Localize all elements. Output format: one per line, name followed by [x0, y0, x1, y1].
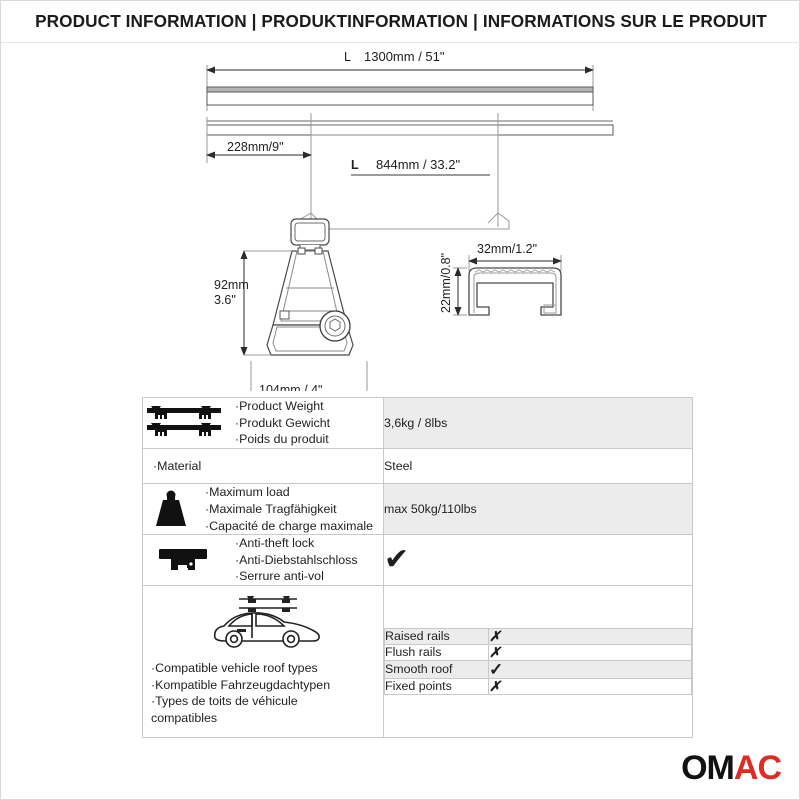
bar-length-label: L: [344, 50, 351, 64]
roof-type-mark: ✗: [489, 644, 692, 660]
profile-width-label: 32mm/1.2": [477, 242, 537, 256]
row-label-text: ·Maximum load ·Maximale Tragfähigkeit ·C…: [205, 484, 373, 534]
weight-icon: [143, 488, 199, 530]
technical-drawing: L 1300mm / 51" 228mm/9" L 844mm / 33.2" …: [1, 43, 800, 391]
logo-text-accent: AC: [734, 751, 781, 785]
roof-type-mark: ✗: [489, 678, 692, 694]
label-line: ·Capacité de charge maximale: [205, 518, 373, 535]
row-label-cell: ·Product Weight ·Produkt Gewicht ·Poids …: [143, 398, 384, 449]
car-with-rack-icon: [203, 592, 323, 654]
table-row: ·Maximum load ·Maximale Tragfähigkeit ·C…: [143, 484, 693, 535]
row-label-text: ·Anti-theft lock ·Anti-Diebstahlschloss …: [235, 535, 358, 585]
roof-type-row: Flush rails ✗: [385, 644, 692, 660]
label-line: compatibles: [151, 710, 330, 727]
label-line: ·Serrure anti-vol: [235, 568, 358, 585]
roof-type-mark: ✓: [489, 660, 692, 678]
logo-text-dark: OM: [681, 751, 734, 785]
roof-type-row: Fixed points ✗: [385, 678, 692, 694]
check-mark-icon: ✔: [384, 543, 409, 576]
omac-logo: OMAC: [681, 751, 781, 785]
max-load-value: max 50kg/110lbs: [384, 484, 693, 535]
label-line: ·Poids du produit: [235, 431, 330, 448]
label-line: ·Produkt Gewicht: [235, 415, 330, 432]
roof-type-name: Raised rails: [385, 628, 489, 644]
label-line: ·Material: [153, 458, 383, 475]
product-information-page: PRODUCT INFORMATION | PRODUKTINFORMATION…: [0, 0, 800, 800]
roof-types-table: Raised rails ✗ Flush rails ✗: [384, 628, 692, 695]
label-line: ·Anti-Diebstahlschloss: [235, 552, 358, 569]
foot-height-line2: 3.6": [214, 293, 236, 307]
table-row: ·Compatible vehicle roof types ·Kompatib…: [143, 586, 693, 737]
table-row: ·Anti-theft lock ·Anti-Diebstahlschloss …: [143, 535, 693, 586]
page-title: PRODUCT INFORMATION | PRODUKTINFORMATION…: [35, 11, 767, 32]
roof-type-row: Smooth roof ✓: [385, 660, 692, 678]
label-line: ·Product Weight: [235, 398, 330, 415]
profile-height-label: 22mm/0.8": [439, 253, 453, 313]
label-line: ·Types de toits de véhicule: [151, 693, 330, 710]
row-label-text: ·Material: [153, 449, 383, 484]
page-header: PRODUCT INFORMATION | PRODUKTINFORMATION…: [1, 1, 800, 43]
label-line: ·Kompatible Fahrzeugdachtypen: [151, 677, 330, 694]
foot-width-label: 104mm / 4": [259, 383, 323, 391]
roof-type-mark: ✗: [489, 628, 692, 644]
roof-type-row: Raised rails ✗: [385, 628, 692, 644]
check-mark-icon: ✓: [489, 660, 503, 679]
row-label-cell: ·Anti-theft lock ·Anti-Diebstahlschloss …: [143, 535, 384, 586]
row-label-text: ·Product Weight ·Produkt Gewicht ·Poids …: [235, 398, 330, 448]
span-label: L: [351, 158, 359, 172]
cross-mark-icon: ✗: [489, 644, 501, 660]
foot-offset-label: 228mm/9": [227, 140, 284, 154]
compat-label-text: ·Compatible vehicle roof types ·Kompatib…: [143, 660, 330, 726]
lock-icon: [143, 543, 229, 577]
label-line: ·Maximale Tragfähigkeit: [205, 501, 373, 518]
table-row: ·Product Weight ·Produkt Gewicht ·Poids …: [143, 398, 693, 449]
compat-label-cell: ·Compatible vehicle roof types ·Kompatib…: [143, 586, 384, 737]
crossbar-pair-icon: [143, 403, 229, 443]
roof-type-name: Flush rails: [385, 644, 489, 660]
span-value: 844mm / 33.2": [376, 157, 460, 172]
roof-type-name: Smooth roof: [385, 660, 489, 678]
bar-length-value: 1300mm / 51": [364, 49, 445, 64]
table-row: ·Material Steel: [143, 448, 693, 484]
anti-theft-value: ✔: [384, 535, 693, 586]
product-weight-value: 3,6kg / 8lbs: [384, 398, 693, 449]
material-value: Steel: [384, 448, 693, 484]
row-label-cell: ·Maximum load ·Maximale Tragfähigkeit ·C…: [143, 484, 384, 535]
label-line: ·Anti-theft lock: [235, 535, 358, 552]
label-line: ·Compatible vehicle roof types: [151, 660, 330, 677]
row-label-cell: ·Material: [143, 448, 384, 484]
cross-mark-icon: ✗: [489, 678, 501, 694]
roof-types-cell: Raised rails ✗ Flush rails ✗: [384, 586, 693, 737]
specification-table: ·Product Weight ·Produkt Gewicht ·Poids …: [142, 397, 693, 738]
label-line: ·Maximum load: [205, 484, 373, 501]
foot-height-line1: 92mm: [214, 278, 249, 292]
cross-mark-icon: ✗: [489, 628, 501, 644]
roof-type-name: Fixed points: [385, 678, 489, 694]
